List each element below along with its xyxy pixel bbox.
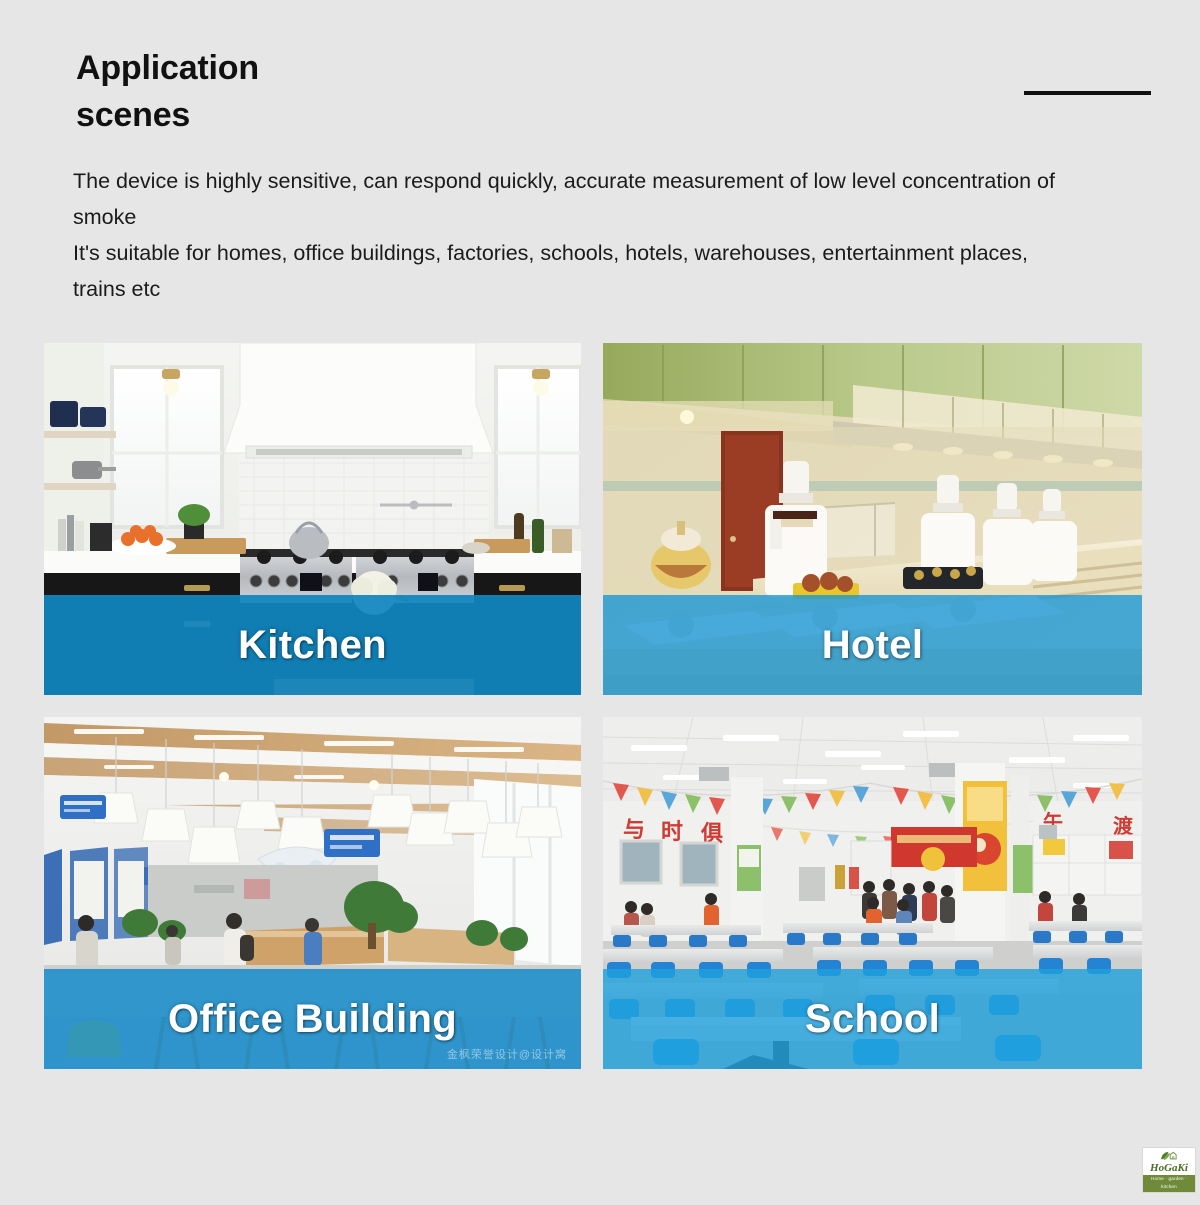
logo-tagline: Home · garden · kitchen [1143, 1175, 1195, 1192]
brand-logo: HoGaKi Home · garden · kitchen [1142, 1147, 1196, 1193]
page-title: Application scenes [76, 45, 496, 139]
application-scenes-page: Application scenes The device is highly … [0, 0, 1200, 1205]
scene-card-office-building[interactable]: Office Building 金枫荣誉设计@设计窝 [44, 717, 581, 1069]
intro-paragraph: The device is highly sensitive, can resp… [73, 163, 1083, 307]
logo-wordmark: HoGaKi [1150, 1163, 1188, 1174]
scene-card-kitchen[interactable]: Kitchen [44, 343, 581, 695]
hotel-label-band: Hotel [603, 595, 1142, 695]
school-label-band: School [603, 969, 1142, 1069]
svg-text:与: 与 [623, 818, 645, 843]
scene-card-grid: Kitchen [44, 343, 1142, 1069]
scene-card-hotel[interactable]: Hotel [603, 343, 1142, 695]
kitchen-label-band: Kitchen [44, 595, 581, 695]
svg-text:渡: 渡 [1113, 814, 1134, 838]
office-building-label-band: Office Building [44, 969, 581, 1069]
scene-label-school: School [805, 997, 940, 1042]
scene-label-office-building: Office Building [168, 997, 457, 1042]
scene-label-kitchen: Kitchen [238, 623, 387, 668]
svg-text:时: 时 [661, 820, 683, 845]
scene-label-hotel: Hotel [822, 623, 924, 668]
leaf-house-icon [1154, 1150, 1184, 1162]
scene-card-school[interactable]: 与时俱进 午渡 [603, 717, 1142, 1069]
header-rule [1024, 91, 1151, 95]
